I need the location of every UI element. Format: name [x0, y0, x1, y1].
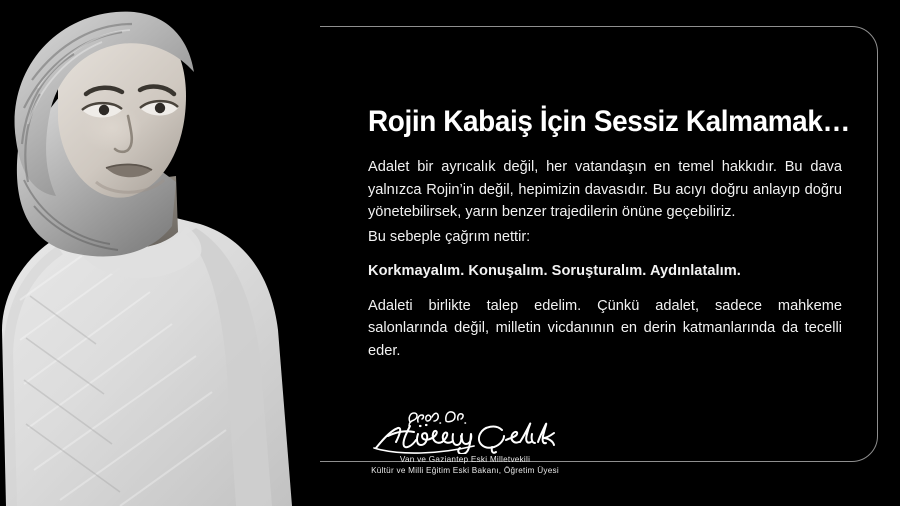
body-paragraph-1: Adalet bir ayrıcalık değil, her vatandaş…: [368, 156, 842, 224]
handwritten-signature-icon: [370, 404, 560, 454]
signature-title-line-1: Van ve Gaziantep Eski Milletvekili: [350, 454, 580, 465]
page-title: Rojin Kabaiş İçin Sessiz Kalmamak…: [368, 104, 809, 140]
portrait-image: [0, 0, 320, 506]
portrait-photo: [0, 0, 320, 506]
message-content: Rojin Kabaiş İçin Sessiz Kalmamak… Adale…: [368, 104, 842, 362]
body-paragraph-2: Bu sebeple çağrım nettir:: [368, 226, 842, 249]
signature-block: Van ve Gaziantep Eski Milletvekili Kültü…: [350, 404, 580, 476]
poster-card: Rojin Kabaiş İçin Sessiz Kalmamak… Adale…: [0, 0, 900, 506]
signature-title-line-2: Kültür ve Milli Eğitim Eski Bakanı, Öğre…: [350, 465, 580, 476]
call-to-action-text: Korkmayalım. Konuşalım. Soruşturalım. Ay…: [368, 260, 842, 283]
body-paragraph-3: Adaleti birlikte talep edelim. Çünkü ada…: [368, 295, 842, 363]
